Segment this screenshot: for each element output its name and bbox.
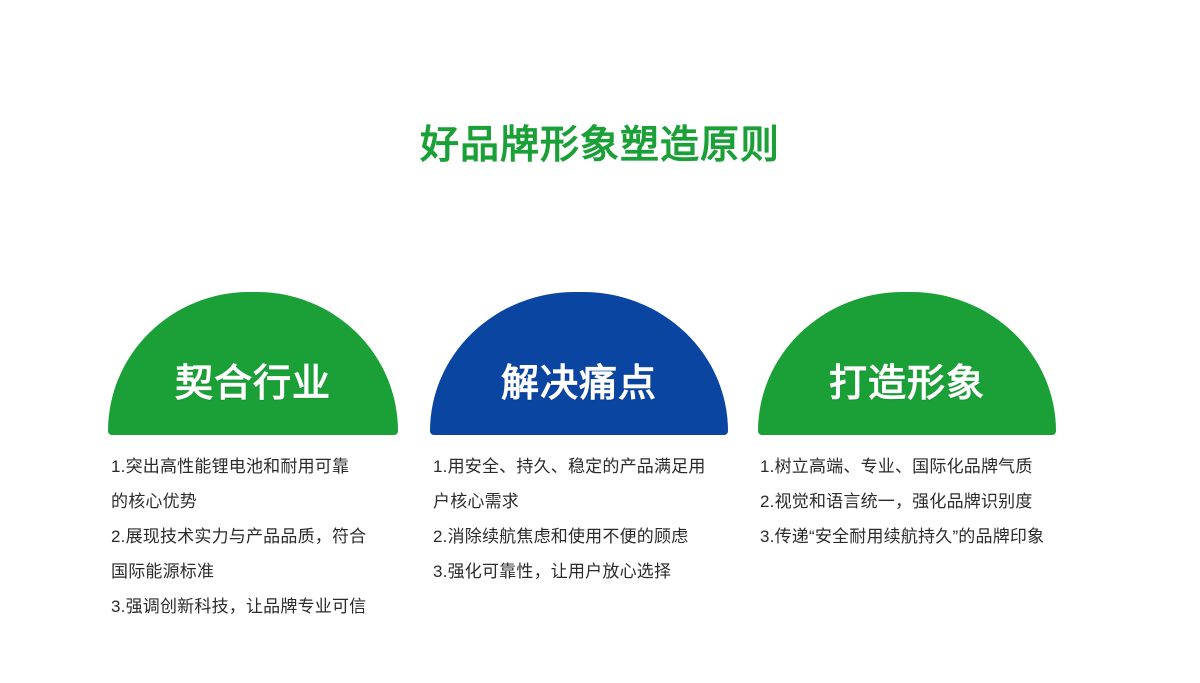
- list-item: 3.强调创新科技，让品牌专业可信: [111, 589, 403, 624]
- principle-column-3: 打造形象 1.树立高端、专业、国际化品牌气质 2.视觉和语言统一，强化品牌识别度…: [758, 292, 1058, 554]
- list-item: 2.视觉和语言统一，强化品牌识别度: [760, 484, 1070, 519]
- page-title: 好品牌形象塑造原则: [0, 124, 1200, 169]
- principle-column-2: 解决痛点 1.用安全、持久、稳定的产品满足用 户核心需求 2.消除续航焦虑和使用…: [430, 292, 730, 589]
- list-item: 1.用安全、持久、稳定的产品满足用: [433, 449, 739, 484]
- list-item: 3.强化可靠性，让用户放心选择: [433, 554, 739, 589]
- list-item: 1.突出高性能锂电池和耐用可靠: [111, 449, 403, 484]
- dome-label-2: 解决痛点: [501, 365, 657, 435]
- principle-list-3: 1.树立高端、专业、国际化品牌气质 2.视觉和语言统一，强化品牌识别度 3.传递…: [758, 435, 1070, 554]
- list-item: 户核心需求: [433, 484, 739, 519]
- dome-shape-jiejue-tongdian[interactable]: 解决痛点: [430, 292, 728, 435]
- slide-canvas: 好品牌形象塑造原则 契合行业 1.突出高性能锂电池和耐用可靠 的核心优势 2.展…: [0, 0, 1200, 683]
- list-item: 国际能源标准: [111, 554, 403, 589]
- dome-shape-dazao-xingxiang[interactable]: 打造形象: [758, 292, 1056, 435]
- list-item: 2.消除续航焦虑和使用不便的顾虑: [433, 519, 739, 554]
- dome-label-1: 契合行业: [175, 365, 331, 435]
- list-item: 3.传递“安全耐用续航持久”的品牌印象: [760, 519, 1070, 554]
- principle-list-2: 1.用安全、持久、稳定的产品满足用 户核心需求 2.消除续航焦虑和使用不便的顾虑…: [430, 435, 739, 589]
- list-item: 2.展现技术实力与产品品质，符合: [111, 519, 403, 554]
- dome-shape-qihe-hangye[interactable]: 契合行业: [108, 292, 398, 435]
- list-item: 的核心优势: [111, 484, 403, 519]
- principle-list-1: 1.突出高性能锂电池和耐用可靠 的核心优势 2.展现技术实力与产品品质，符合 国…: [108, 435, 403, 624]
- principle-column-1: 契合行业 1.突出高性能锂电池和耐用可靠 的核心优势 2.展现技术实力与产品品质…: [108, 292, 400, 624]
- principles-columns: 契合行业 1.突出高性能锂电池和耐用可靠 的核心优势 2.展现技术实力与产品品质…: [0, 292, 1200, 652]
- dome-label-3: 打造形象: [829, 365, 985, 435]
- list-item: 1.树立高端、专业、国际化品牌气质: [760, 449, 1070, 484]
